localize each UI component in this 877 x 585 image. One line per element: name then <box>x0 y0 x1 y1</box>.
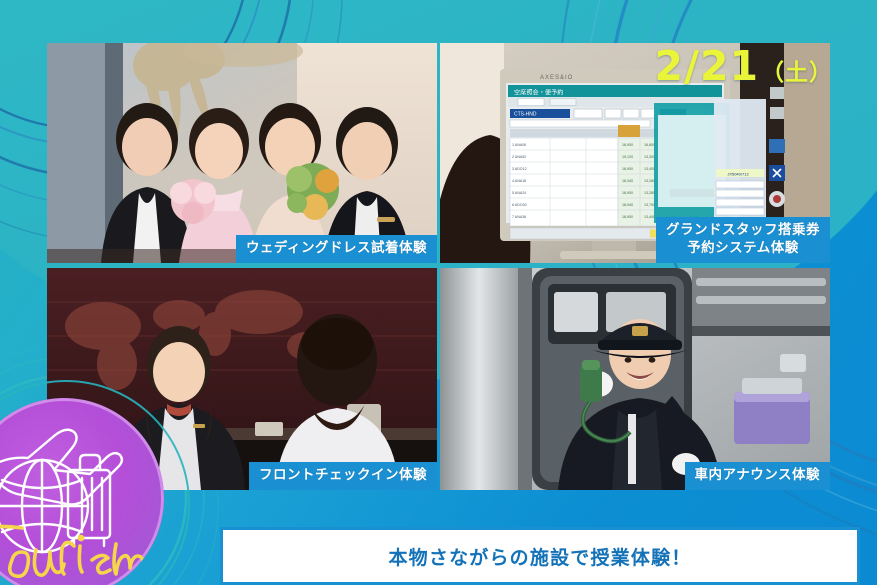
caption-text: ウェディングドレス試着体験 <box>246 240 427 256</box>
svg-text:空席照会・便予約: 空席照会・便予約 <box>514 89 564 97</box>
wedding-dress-photo <box>47 43 437 263</box>
svg-text:2 ANA52: 2 ANA52 <box>512 155 526 159</box>
caption-wedding-dress: ウェディングドレス試着体験 <box>236 235 437 263</box>
svg-text:7 ANA36: 7 ANA36 <box>512 215 526 219</box>
caption-text-line2: 予約システム体験 <box>666 240 820 257</box>
svg-text:18,900: 18,900 <box>622 191 633 195</box>
svg-text:19,120: 19,120 <box>622 155 633 159</box>
svg-text:18,940: 18,940 <box>622 203 633 207</box>
onboard-announce-photo <box>440 268 830 490</box>
suitcase-icon <box>68 455 110 546</box>
svg-text:4 ANA18: 4 ANA18 <box>512 179 526 183</box>
svg-text:18,340: 18,340 <box>622 179 633 183</box>
caption-text: フロントチェックイン体験 <box>259 467 427 483</box>
tourism-logo <box>0 398 164 585</box>
svg-text:3 ADO12: 3 ADO12 <box>512 167 527 171</box>
svg-text:13,280: 13,280 <box>644 191 655 195</box>
caption-text: 車内アナウンス体験 <box>695 467 820 483</box>
svg-text:5 ANA24: 5 ANA24 <box>512 191 526 195</box>
svg-text:13,300: 13,300 <box>644 155 655 159</box>
headline-text: 本物さながらの施設で授業体験！ <box>388 543 691 570</box>
photo-panel-onboard-announce: 車内アナウンス体験 <box>440 268 830 490</box>
svg-text:CTS-HND: CTS-HND <box>514 112 537 118</box>
svg-text:6 ADO30: 6 ADO30 <box>512 203 527 207</box>
svg-text:18,900: 18,900 <box>622 143 633 147</box>
svg-text:1 ANA06: 1 ANA06 <box>512 143 526 147</box>
caption-onboard-announce: 車内アナウンス体験 <box>685 462 830 490</box>
caption-front-checkin: フロントチェックイン体験 <box>249 462 437 490</box>
svg-text:18,900: 18,900 <box>622 215 633 219</box>
svg-text:13,440: 13,440 <box>644 215 655 219</box>
svg-text:AXES&IO: AXES&IO <box>540 75 573 81</box>
svg-text:13,700: 13,700 <box>644 203 655 207</box>
event-date-main: 2/21 <box>654 42 759 90</box>
svg-text:18,900: 18,900 <box>622 167 633 171</box>
logo-artwork <box>0 398 164 585</box>
poster-canvas: ウェディングドレス試着体験 空席照会・便予約 <box>0 0 877 585</box>
svg-text:13,280: 13,280 <box>644 179 655 183</box>
svg-text:16,800: 16,800 <box>644 143 655 147</box>
headline-banner: 本物さながらの施設で授業体験！ <box>220 527 860 585</box>
svg-text:13,400: 13,400 <box>644 167 655 171</box>
event-date-weekday: （土） <box>761 60 833 86</box>
logo-wordmark <box>0 522 144 585</box>
svg-text:JX5040/712: JX5040/712 <box>727 172 749 177</box>
caption-text-line1: グランドスタッフ搭乗券 <box>666 222 820 239</box>
caption-ground-staff: グランドスタッフ搭乗券 予約システム体験 <box>656 217 830 263</box>
event-date: 2/21（土） <box>654 46 833 87</box>
photo-panel-wedding-dress: ウェディングドレス試着体験 <box>47 43 437 263</box>
